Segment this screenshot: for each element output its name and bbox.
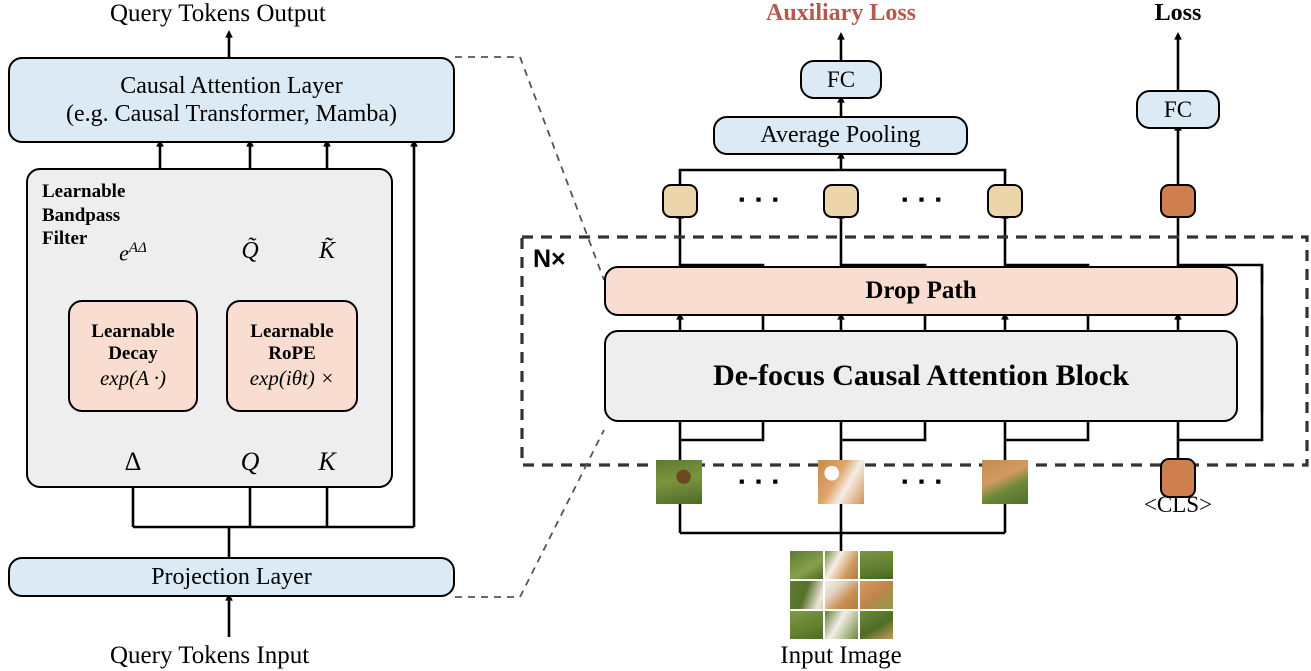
causal-attention-layer-box[interactable]: Causal Attention Layer (e.g. Causal Tran… bbox=[8, 57, 455, 143]
image-cell-2 bbox=[825, 551, 858, 579]
decay-output-exponent: AΔ bbox=[129, 240, 147, 256]
learnable-decay-box[interactable]: Learnable Decay exp(A ·) bbox=[68, 300, 198, 412]
diagram-canvas: Query Tokens Output Causal Attention Lay… bbox=[0, 0, 1311, 671]
output-token-2[interactable] bbox=[823, 184, 859, 218]
output-ellipsis-1: ▪ ▪ ▪ bbox=[739, 190, 782, 210]
auxiliary-loss-label: Auxiliary Loss bbox=[766, 0, 916, 27]
bandpass-title: Learnable Bandpass Filter bbox=[42, 180, 125, 251]
defocus-causal-attention-block[interactable]: De-focus Causal Attention Block bbox=[604, 330, 1238, 422]
q-symbol: Q bbox=[241, 447, 260, 477]
input-ellipsis-1: ▪ ▪ ▪ bbox=[739, 472, 782, 492]
image-cell-9 bbox=[860, 611, 893, 639]
input-ellipsis-2: ▪ ▪ ▪ bbox=[902, 472, 945, 492]
fc-auxiliary-box[interactable]: FC bbox=[800, 60, 882, 99]
fc-cls-box[interactable]: FC bbox=[1136, 90, 1220, 129]
k-tilde-symbol: K̃ bbox=[319, 238, 335, 265]
query-tokens-input-label: Query Tokens Input bbox=[110, 642, 309, 670]
image-cell-4 bbox=[790, 581, 823, 609]
output-token-3[interactable] bbox=[987, 184, 1023, 218]
drop-path-box[interactable]: Drop Path bbox=[604, 266, 1238, 316]
causal-attention-line2: (e.g. Causal Transformer, Mamba) bbox=[66, 100, 397, 128]
image-cell-5 bbox=[825, 581, 858, 609]
output-token-1[interactable] bbox=[662, 184, 698, 218]
image-cell-6 bbox=[860, 581, 893, 609]
input-patch-token-2[interactable] bbox=[818, 460, 864, 504]
image-cell-3 bbox=[860, 551, 893, 579]
bandpass-title-line2: Bandpass bbox=[42, 204, 125, 228]
projection-layer-box[interactable]: Projection Layer bbox=[8, 557, 455, 597]
decay-output-symbol: eAΔ bbox=[119, 240, 147, 266]
loss-label: Loss bbox=[1155, 0, 1202, 27]
cls-label: <CLS> bbox=[1144, 492, 1212, 518]
output-cls-token[interactable] bbox=[1160, 184, 1196, 218]
decay-formula: exp(A ·) bbox=[100, 366, 166, 391]
query-tokens-output-label: Query Tokens Output bbox=[110, 0, 326, 28]
repeat-count-label: N× bbox=[533, 245, 566, 274]
input-patch-token-3[interactable] bbox=[982, 460, 1028, 504]
bandpass-title-line1: Learnable bbox=[42, 180, 125, 204]
decay-line1: Learnable bbox=[91, 321, 174, 344]
q-tilde-symbol: Q̃ bbox=[241, 238, 258, 265]
image-cell-8 bbox=[825, 611, 858, 639]
causal-attention-line1: Causal Attention Layer bbox=[120, 72, 343, 100]
delta-symbol: Δ bbox=[125, 447, 142, 477]
learnable-rope-box[interactable]: Learnable RoPE exp(iθt) × bbox=[226, 300, 358, 412]
average-pooling-box[interactable]: Average Pooling bbox=[713, 116, 968, 155]
decay-line2: Decay bbox=[108, 343, 158, 366]
k-symbol: K bbox=[318, 447, 335, 477]
bandpass-title-line3: Filter bbox=[42, 227, 125, 251]
image-cell-7 bbox=[790, 611, 823, 639]
decay-output-base: e bbox=[119, 240, 129, 265]
image-cell-1 bbox=[790, 551, 823, 579]
input-image-label: Input Image bbox=[780, 642, 901, 670]
output-ellipsis-2: ▪ ▪ ▪ bbox=[902, 190, 945, 210]
input-image-grid[interactable] bbox=[790, 551, 893, 639]
rope-line1: Learnable bbox=[250, 321, 333, 344]
rope-line2: RoPE bbox=[268, 343, 316, 366]
input-patch-token-1[interactable] bbox=[656, 460, 702, 504]
rope-formula: exp(iθt) × bbox=[250, 366, 335, 391]
